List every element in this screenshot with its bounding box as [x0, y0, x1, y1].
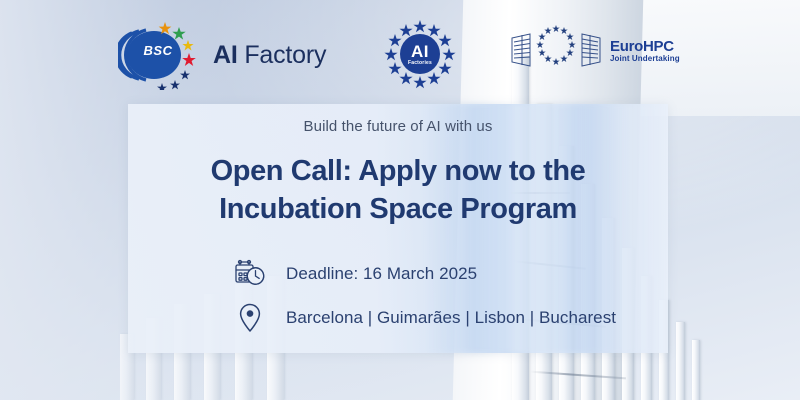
ai-factories-center-sub: Factories [408, 61, 432, 66]
promo-banner: BSC AI Factory [0, 0, 800, 400]
ai-factory-wordmark-bold: AI [213, 41, 238, 69]
kicker-text: Build the future of AI with us [128, 118, 668, 135]
locations-text: Barcelona | Guimarães | Lisbon | Buchare… [286, 308, 616, 328]
locations-row: Barcelona | Guimarães | Lisbon | Buchare… [232, 296, 616, 340]
map-pin-icon [232, 301, 268, 335]
ai-factories-center-label: AI [411, 43, 429, 60]
content-panel: Build the future of AI with us Open Call… [128, 104, 668, 353]
info-list: Deadline: 16 March 2025 Barcelona | Guim… [232, 252, 616, 340]
headline-line-1: Open Call: Apply now to the [211, 155, 586, 187]
calendar-clock-icon [232, 257, 268, 291]
ai-factories-logo: AI Factories [372, 18, 468, 90]
bsc-acronym: BSC [144, 43, 173, 58]
bsc-mark-icon: BSC [118, 18, 204, 90]
bsc-mark-label: BSC [138, 42, 178, 60]
logo-strip: BSC AI Factory [0, 0, 800, 104]
ai-factory-wordmark: AI Factory [213, 41, 326, 70]
ai-factories-center-disc: AI Factories [400, 34, 440, 74]
headline-line-2: Incubation Space Program [128, 190, 668, 228]
bsc-ai-factory-logo: BSC AI Factory [118, 18, 326, 90]
eurohpc-title: EuroHPC [610, 39, 680, 55]
deadline-row: Deadline: 16 March 2025 [232, 252, 616, 296]
eurohpc-logo: EuroHPC Joint Undertaking [508, 22, 680, 78]
deadline-text: Deadline: 16 March 2025 [286, 264, 477, 284]
eurohpc-emblem-icon [508, 22, 604, 78]
eurohpc-subtitle: Joint Undertaking [610, 55, 680, 63]
eurohpc-wordmark: EuroHPC Joint Undertaking [610, 37, 680, 63]
ai-factory-wordmark-light: Factory [244, 41, 326, 69]
page-title: Open Call: Apply now to the Incubation S… [128, 152, 668, 229]
